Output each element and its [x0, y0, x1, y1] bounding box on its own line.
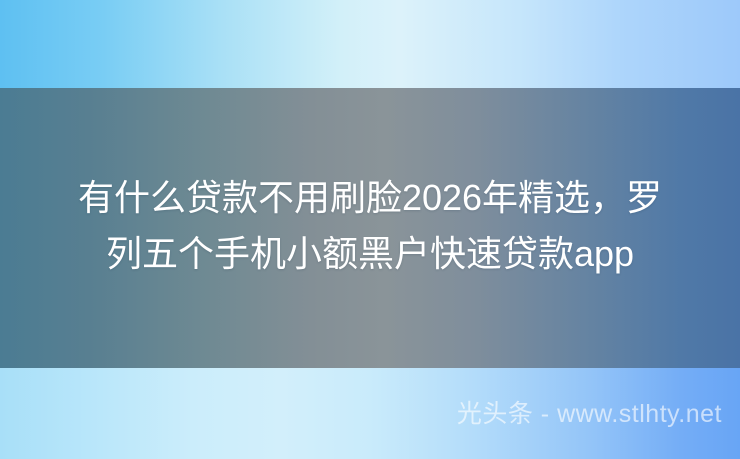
page-title: 有什么贷款不用刷脸2026年精选，罗 列五个手机小额黑户快速贷款app — [20, 170, 720, 286]
title-line-1: 有什么贷款不用刷脸2026年精选，罗 — [20, 170, 720, 226]
top-decorative-band — [0, 0, 740, 88]
bottom-decorative-band: 光头条 - www.stlhty.net — [0, 368, 740, 459]
title-line-2: 列五个手机小额黑户快速贷款app — [20, 226, 720, 282]
site-watermark: 光头条 - www.stlhty.net — [457, 399, 722, 429]
main-title-band: 有什么贷款不用刷脸2026年精选，罗 列五个手机小额黑户快速贷款app — [0, 88, 740, 368]
cover-image-canvas: 有什么贷款不用刷脸2026年精选，罗 列五个手机小额黑户快速贷款app 光头条 … — [0, 0, 740, 459]
